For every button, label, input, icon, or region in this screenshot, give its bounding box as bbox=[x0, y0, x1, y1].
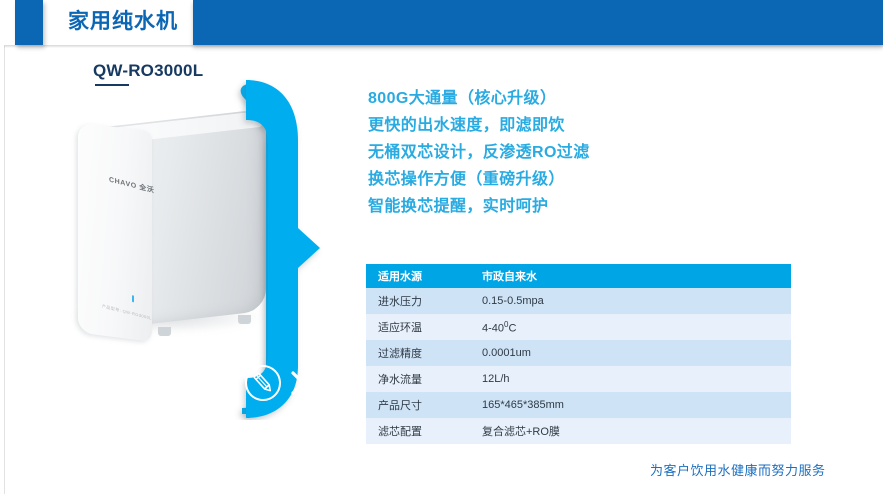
left-border-rule bbox=[4, 46, 5, 494]
spec-value-ambient-temp: 4-400C bbox=[470, 314, 791, 340]
product-front-panel: CHAVO 全沃 产品型号: QW-RO3000L bbox=[78, 122, 152, 341]
brand-logo: CHAVO 全沃 bbox=[109, 174, 155, 195]
feature-item-1: 800G大通量（核心升级） bbox=[368, 85, 788, 112]
model-name-underline bbox=[95, 84, 129, 86]
specification-table: 适用水源 市政自来水 进水压力 0.15-0.5mpa 适应环温 4-400C … bbox=[366, 264, 791, 444]
table-row: 进水压力 0.15-0.5mpa bbox=[366, 288, 791, 314]
table-header-label: 适用水源 bbox=[366, 264, 470, 288]
spec-value-dimensions: 165*465*385mm bbox=[470, 392, 791, 418]
spec-label-flow-rate: 净水流量 bbox=[366, 366, 470, 392]
temp-unit: C bbox=[508, 322, 516, 334]
spec-label-inlet-pressure: 进水压力 bbox=[366, 288, 470, 314]
product-model-name: QW-RO3000L bbox=[93, 61, 203, 81]
spec-value-inlet-pressure: 0.15-0.5mpa bbox=[470, 288, 791, 314]
header-accent-square bbox=[15, 0, 43, 45]
feature-item-3: 无桶双芯设计，反渗透RO过滤 bbox=[368, 139, 788, 166]
page-header: 家用纯水机 bbox=[0, 0, 883, 48]
table-row: 过滤精度 0.0001um bbox=[366, 340, 791, 366]
table-row: 净水流量 12L/h bbox=[366, 366, 791, 392]
feature-item-4: 换芯操作方便（重磅升级） bbox=[368, 166, 788, 193]
spec-label-ambient-temp: 适应环温 bbox=[366, 314, 470, 340]
product-spec-page: 家用纯水机 QW-RO3000L CHAVO 全沃 产品型号: QW-RO300… bbox=[0, 0, 883, 494]
table-header-value: 市政自来水 bbox=[470, 264, 791, 288]
feature-item-2: 更快的出水速度，即滤即饮 bbox=[368, 112, 788, 139]
table-row: 产品尺寸 165*465*385mm bbox=[366, 392, 791, 418]
page-title: 家用纯水机 bbox=[68, 8, 178, 36]
pencil-icon[interactable] bbox=[243, 363, 283, 403]
table-row: 适应环温 4-400C bbox=[366, 314, 791, 340]
product-panel-model-text: 产品型号: QW-RO3000L bbox=[102, 303, 152, 321]
chevron-right-icon[interactable] bbox=[289, 369, 307, 397]
spec-value-flow-rate: 12L/h bbox=[470, 366, 791, 392]
table-header-row: 适用水源 市政自来水 bbox=[366, 264, 791, 288]
feature-list: 800G大通量（核心升级） 更快的出水速度，即滤即饮 无桶双芯设计，反渗透RO过… bbox=[368, 85, 788, 220]
spec-label-dimensions: 产品尺寸 bbox=[366, 392, 470, 418]
ribbon-icon-group[interactable] bbox=[243, 363, 313, 405]
spec-label-filtration-precision: 过滤精度 bbox=[366, 340, 470, 366]
spec-label-filter-config: 滤芯配置 bbox=[366, 418, 470, 444]
feature-item-5: 智能换芯提醒，实时呵护 bbox=[368, 193, 788, 220]
product-foot-front bbox=[158, 327, 171, 336]
table-row: 滤芯配置 复合滤芯+RO膜 bbox=[366, 418, 791, 444]
header-shadow bbox=[4, 45, 883, 48]
spec-value-filter-config: 复合滤芯+RO膜 bbox=[470, 418, 791, 444]
temp-range: 4-40 bbox=[482, 322, 504, 334]
footer-slogan: 为客户饮用水健康而努力服务 bbox=[650, 460, 826, 479]
spec-value-filtration-precision: 0.0001um bbox=[470, 340, 791, 366]
status-led-indicator bbox=[132, 295, 134, 302]
header-blue-bar bbox=[193, 0, 883, 45]
